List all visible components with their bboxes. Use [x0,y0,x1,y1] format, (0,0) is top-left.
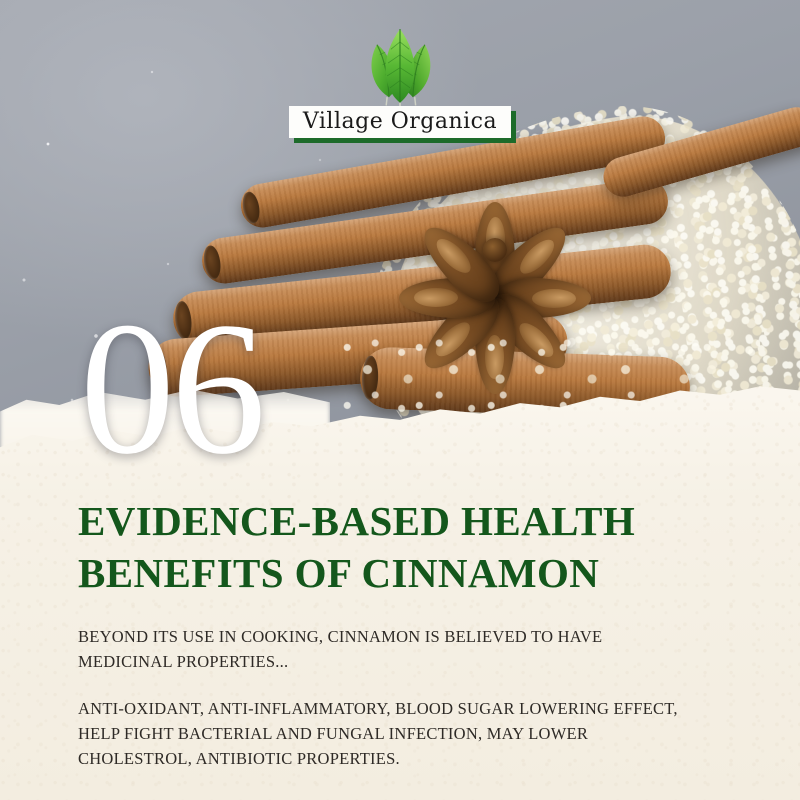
brand-wordmark: Village Organica [303,109,497,134]
content-block: EVIDENCE-BASED HEALTH BENEFITS OF CINNAM… [78,495,730,771]
issue-number: 06 [80,294,262,484]
headline-line-2: BENEFITS OF CINNAMON [78,547,658,599]
star-anise [400,170,590,330]
lede-line-2: MEDICINAL PROPERTIES... [78,649,703,674]
page-title: EVIDENCE-BASED HEALTH BENEFITS OF CINNAM… [78,495,658,600]
benefits-paragraph: ANTI-OXIDANT, ANTI-INFLAMMATORY, BLOOD S… [78,696,703,771]
poster-canvas: Village Organica 06 EVIDENCE-BASED HEALT… [0,0,800,800]
brand-logo[interactable]: Village Organica [0,18,800,138]
lede-line-1: BEYOND ITS USE IN COOKING, CINNAMON IS B… [78,624,703,649]
brand-name-plate: Village Organica [289,106,511,138]
lede-paragraph: BEYOND ITS USE IN COOKING, CINNAMON IS B… [78,624,703,674]
benefits-line-1: ANTI-OXIDANT, ANTI-INFLAMMATORY, BLOOD S… [78,696,703,721]
benefits-line-2: HELP FIGHT BACTERIAL AND FUNGAL INFECTIO… [78,721,703,746]
star-anise-core [483,238,507,262]
benefits-line-3: CHOLESTROL, ANTIBIOTIC PROPERTIES. [78,746,703,771]
headline-line-1: EVIDENCE-BASED HEALTH [78,495,658,547]
leaf-icon [354,18,446,110]
